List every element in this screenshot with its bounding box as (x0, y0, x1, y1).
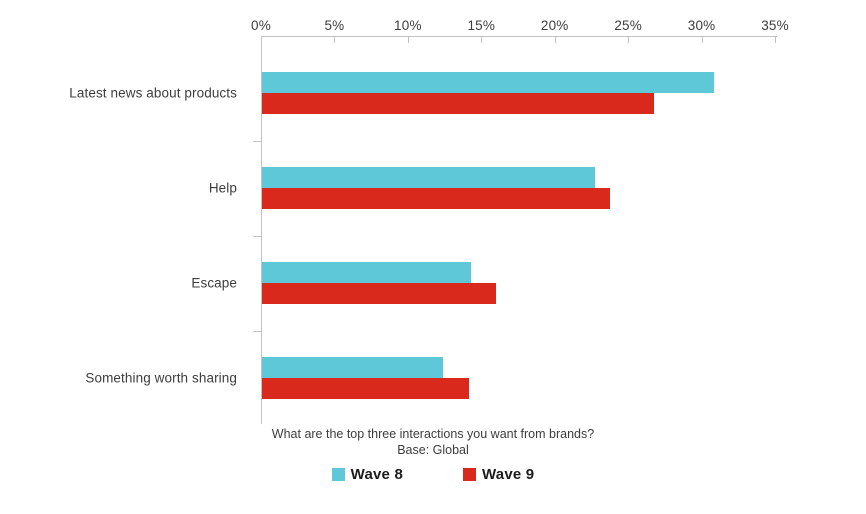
value-axis-tick (261, 36, 262, 43)
legend-label-wave9: Wave 9 (482, 466, 534, 483)
bar-wave8 (262, 167, 595, 188)
value-axis-line (261, 36, 777, 37)
caption-question: What are the top three interactions you … (272, 427, 594, 441)
legend-item-wave8[interactable]: Wave 8 (332, 466, 403, 483)
value-axis-tick-label: 15% (467, 18, 495, 33)
value-axis-tick (408, 36, 409, 43)
value-axis-tick (334, 36, 335, 43)
value-axis-tick-label: 35% (761, 18, 789, 33)
value-axis-tick-label: 0% (251, 18, 271, 33)
value-axis-tick-label: 20% (541, 18, 569, 33)
category-label: Escape (191, 276, 237, 291)
category-axis-tick (253, 141, 261, 142)
category-axis-tick (253, 236, 261, 237)
value-axis-tick-label: 10% (394, 18, 422, 33)
bar-wave8 (262, 357, 443, 378)
bar-wave9 (262, 188, 610, 209)
chart-legend: Wave 8 Wave 9 (0, 466, 866, 483)
value-axis-tick (628, 36, 629, 43)
value-axis-tick (555, 36, 556, 43)
bar-wave8 (262, 72, 714, 93)
legend-label-wave8: Wave 8 (351, 466, 403, 483)
value-axis-tick-label: 25% (614, 18, 642, 33)
legend-swatch-icon-wave8 (332, 468, 345, 481)
value-axis-tick (481, 36, 482, 43)
value-axis-tick-label: 5% (324, 18, 344, 33)
category-axis-tick (253, 331, 261, 332)
category-label: Something worth sharing (85, 371, 237, 386)
value-axis-tick-label: 30% (688, 18, 716, 33)
bar-wave9 (262, 93, 654, 114)
legend-item-wave9[interactable]: Wave 9 (463, 466, 534, 483)
grouped-bar-chart: 0%5%10%15%20%25%30%35% Latest news about… (0, 0, 866, 514)
bar-wave8 (262, 262, 471, 283)
chart-caption: What are the top three interactions you … (0, 426, 866, 458)
value-axis-tick (775, 36, 776, 43)
bar-wave9 (262, 378, 469, 399)
legend-swatch-icon-wave9 (463, 468, 476, 481)
category-label: Help (209, 181, 237, 196)
caption-base: Base: Global (0, 442, 866, 458)
category-label: Latest news about products (69, 86, 237, 101)
value-axis-tick (702, 36, 703, 43)
bar-wave9 (262, 283, 496, 304)
